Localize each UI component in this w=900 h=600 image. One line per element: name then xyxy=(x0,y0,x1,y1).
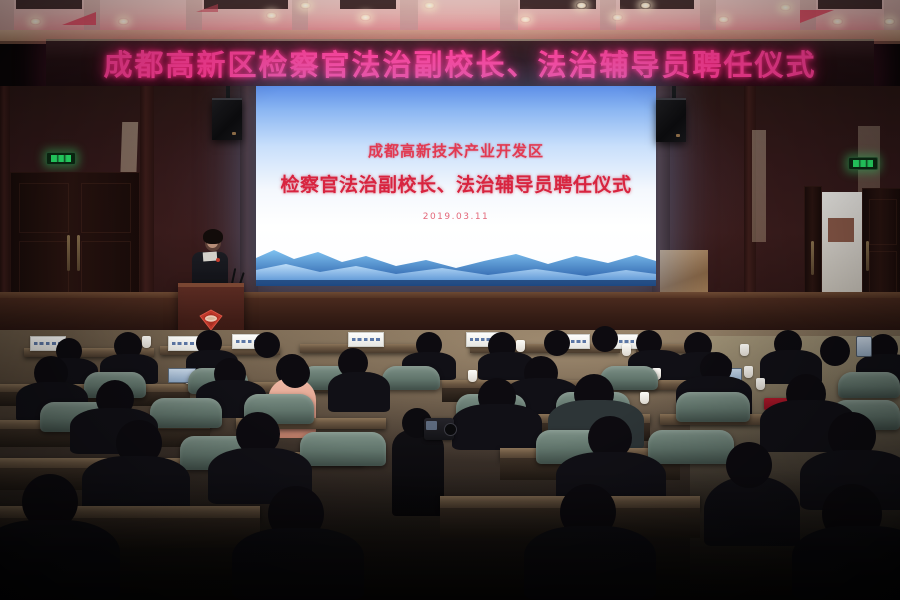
corridor-wall xyxy=(828,218,854,242)
screen-mountain-graphic xyxy=(256,244,656,286)
door-handle[interactable] xyxy=(866,241,869,271)
paper-cup xyxy=(744,366,753,378)
chair[interactable] xyxy=(150,398,222,428)
attendee-shoulders xyxy=(792,526,900,600)
name-placard xyxy=(348,332,384,347)
ceiling-beam xyxy=(700,0,716,34)
speaker-badge-left xyxy=(232,132,236,135)
door-panel xyxy=(81,241,131,295)
downlight xyxy=(718,16,729,23)
screen-date: 2019.03.11 xyxy=(256,212,656,222)
paper-cup xyxy=(640,392,649,404)
paper-cup xyxy=(756,378,765,390)
stage-platform xyxy=(0,298,900,332)
downlight xyxy=(424,2,435,9)
ceiling xyxy=(0,0,900,34)
mountain-svg xyxy=(256,244,656,286)
attendee-shoulders xyxy=(328,372,390,412)
ceiling-slot xyxy=(818,0,882,9)
door-panel xyxy=(81,183,131,233)
attendee-head xyxy=(280,358,310,388)
speaker-badge-right xyxy=(676,134,680,137)
wall-column xyxy=(140,86,154,298)
paper-cup xyxy=(142,336,151,348)
camera-viewfinder-screen xyxy=(426,421,437,430)
ceiling-beam xyxy=(500,0,518,34)
downlight xyxy=(266,12,277,19)
exit-sign-right-icon xyxy=(848,157,878,170)
door-left[interactable] xyxy=(10,172,140,302)
aisle-seated-person-head xyxy=(726,442,772,488)
ceiling-accent-chevron xyxy=(62,12,96,25)
procuratorate-emblem-icon xyxy=(198,309,224,331)
paper-cup xyxy=(740,344,749,356)
downlight xyxy=(300,2,311,9)
downlight xyxy=(360,14,371,21)
ceiling-beam xyxy=(400,0,418,34)
emblem-svg xyxy=(198,309,224,331)
door-panel xyxy=(19,241,69,295)
door-panel xyxy=(869,199,897,245)
wall-speaker-left xyxy=(212,98,242,140)
downlight xyxy=(30,18,41,25)
ceiling-slot xyxy=(340,0,396,9)
wall-speaker-right xyxy=(656,98,686,142)
paper-cup xyxy=(468,370,477,382)
downlight xyxy=(576,2,587,9)
chair[interactable] xyxy=(382,366,440,390)
led-banner: 成都高新区检察官法治副校长、法治辅导员聘任仪式 xyxy=(46,39,874,91)
ceiling-slot xyxy=(16,0,82,9)
exit-glyph xyxy=(51,155,71,162)
paper-cup xyxy=(516,340,525,352)
attendee-shoulders xyxy=(0,520,120,600)
chair[interactable] xyxy=(676,392,750,422)
door-handle[interactable] xyxy=(67,235,70,271)
projection-screen: 成都高新技术产业开发区 检察官法治副校长、法治辅导员聘任仪式 2019.03.1… xyxy=(256,86,656,286)
ceiling-slot xyxy=(620,0,694,9)
corridor-light xyxy=(818,192,862,302)
downlight xyxy=(520,16,531,23)
chair[interactable] xyxy=(648,430,734,464)
ceiling-accent-chevron xyxy=(800,10,834,23)
chair[interactable] xyxy=(300,432,386,466)
ceiling-accent-chevron xyxy=(196,4,218,12)
downlight xyxy=(612,14,623,21)
exit-glyph xyxy=(853,160,873,167)
downlight xyxy=(884,18,895,25)
attendee-shoulders xyxy=(524,526,656,600)
exit-sign-left-icon xyxy=(46,152,76,165)
screen-title: 检察官法治副校长、法治辅导员聘任仪式 xyxy=(256,170,656,197)
presenter-badge xyxy=(216,258,220,262)
downlight xyxy=(832,18,843,25)
attendee-head xyxy=(820,336,850,366)
screen-subtitle: 成都高新技术产业开发区 xyxy=(256,140,656,161)
ceiling-beam xyxy=(0,0,14,34)
downlight xyxy=(640,2,651,9)
placard-text xyxy=(352,338,379,341)
downlight xyxy=(780,4,791,11)
door-handle[interactable] xyxy=(811,241,814,275)
conference-hall-photo: 成都高新区检察官法治副校长、法治辅导员聘任仪式 成都高新技术产业开发区 检察官法… xyxy=(0,0,900,600)
camera-operator xyxy=(392,430,444,516)
smartphone[interactable] xyxy=(856,336,872,357)
downlight xyxy=(118,18,129,25)
paper-cup xyxy=(622,344,631,356)
camera-lens xyxy=(444,423,457,436)
chair[interactable] xyxy=(838,372,900,398)
attendee-head xyxy=(544,330,570,356)
door-panel xyxy=(19,183,69,233)
led-banner-text: 成都高新区检察官法治副校长、法治辅导员聘任仪式 xyxy=(46,44,874,86)
attendee-head xyxy=(254,332,280,358)
door-handle[interactable] xyxy=(77,235,80,271)
attendee-shoulders xyxy=(232,528,364,600)
attendee-head xyxy=(592,326,618,352)
presenter-hair xyxy=(203,229,223,244)
ceiling-beam xyxy=(884,0,900,34)
wall-accent-panel xyxy=(752,130,766,242)
attendee-shoulders xyxy=(452,404,542,450)
